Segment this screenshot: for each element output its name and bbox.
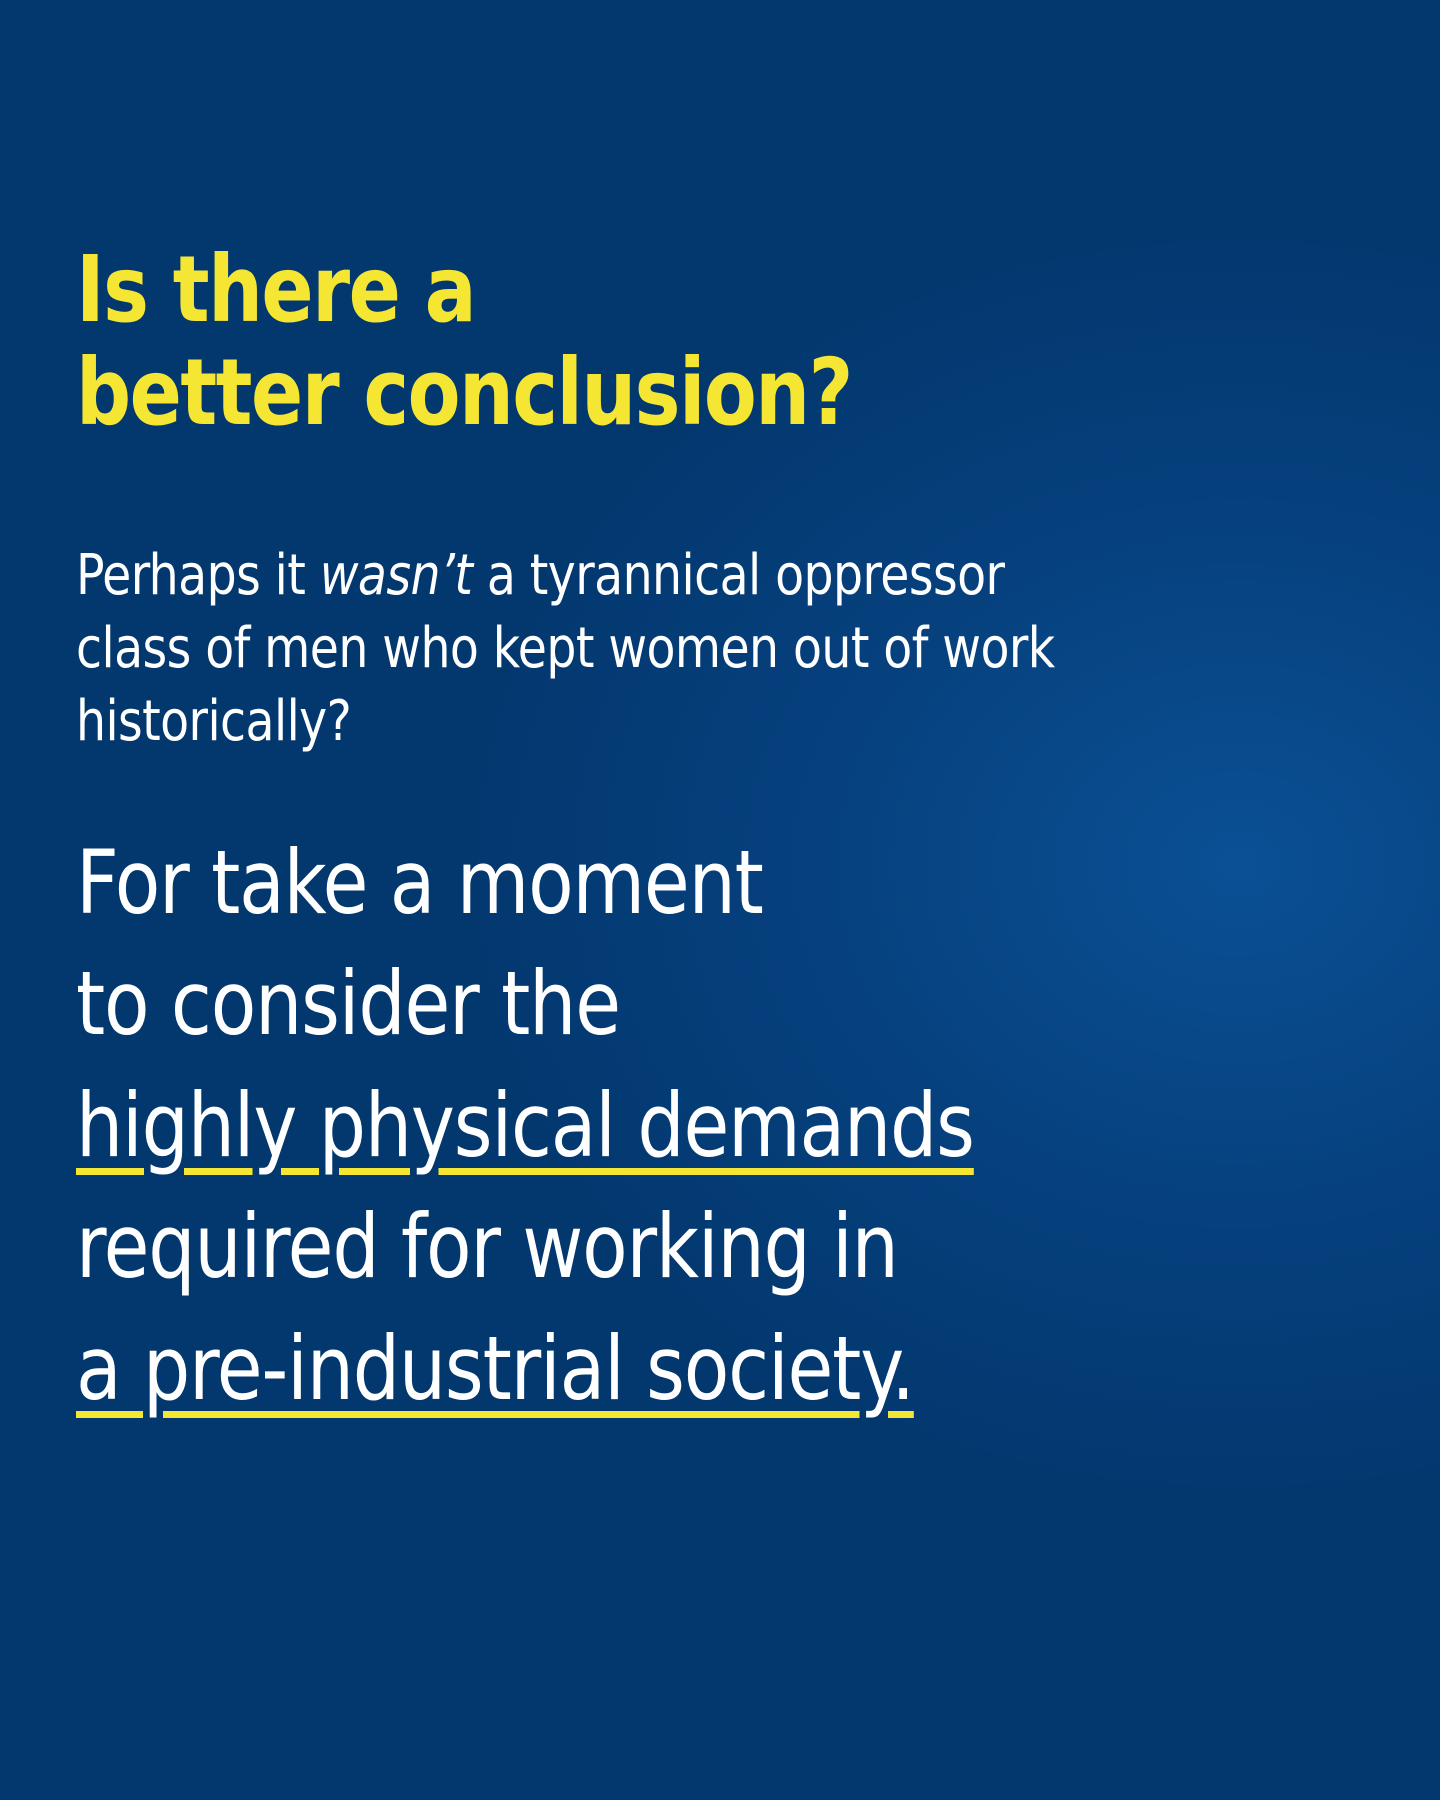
statement-line-5-underlined: a pre-industrial society. [76,1308,974,1429]
paragraph-emphasis: wasn’t [320,543,473,608]
page-title: Is there a better conclusion? [76,238,852,444]
statement-block: For take a moment to consider the highly… [76,822,974,1429]
statement-line-3-underlined: highly physical demands [76,1065,974,1186]
statement-line-1: For take a moment [76,822,974,943]
slide-canvas: Is there a better conclusion? Perhaps it… [0,0,1440,1800]
statement-line-2: to consider the [76,943,974,1064]
intro-paragraph: Perhaps it wasn’t a tyrannical oppressor… [76,540,1129,758]
content-column: Is there a better conclusion? Perhaps it… [76,0,1376,1800]
paragraph-part-1: Perhaps it [76,543,320,608]
statement-line-4: required for working in [76,1186,974,1307]
